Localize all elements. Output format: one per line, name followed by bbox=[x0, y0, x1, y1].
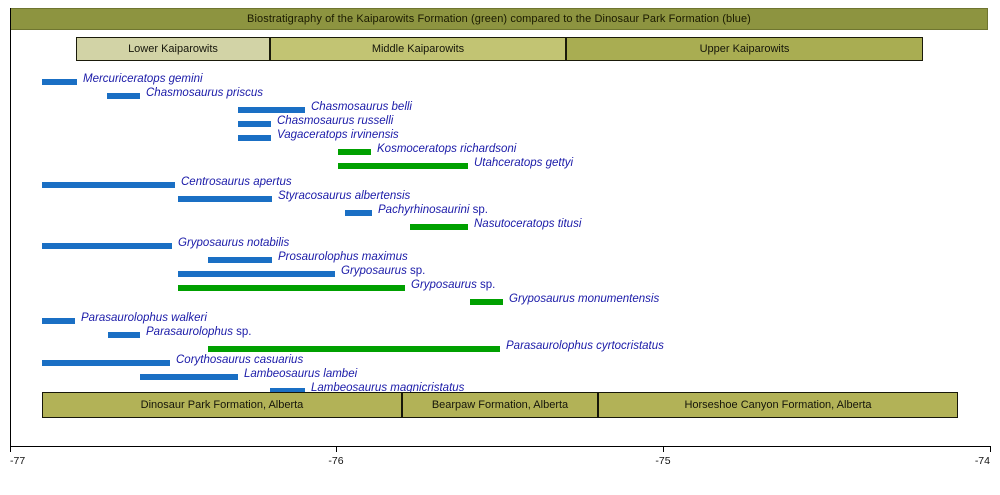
taxon-range-bar bbox=[178, 271, 335, 277]
taxon-label: Chasmosaurus russelli bbox=[277, 115, 393, 127]
taxon-row: Chasmosaurus belli bbox=[0, 103, 1000, 117]
taxon-range-bar bbox=[238, 107, 305, 113]
biostratigraphy-chart: Biostratigraphy of the Kaiparowits Forma… bbox=[0, 0, 1000, 495]
member-band-0: Lower Kaiparowits bbox=[76, 37, 270, 61]
taxon-row: Gryposaurus monumentensis bbox=[0, 295, 1000, 309]
x-axis-tick-label: -77 bbox=[10, 455, 25, 467]
taxon-range-bar bbox=[238, 121, 271, 127]
taxon-range-bar bbox=[42, 318, 75, 324]
alberta-formation-band: Dinosaur Park Formation, AlbertaBearpaw … bbox=[0, 392, 1000, 418]
taxon-range-bar bbox=[178, 285, 405, 291]
x-axis-tick bbox=[336, 446, 337, 452]
taxon-label: Chasmosaurus priscus bbox=[146, 87, 263, 99]
taxon-row: Gryposaurus notabilis bbox=[0, 239, 1000, 253]
formation-band-1: Bearpaw Formation, Alberta bbox=[402, 392, 598, 418]
taxon-range-bar bbox=[107, 93, 140, 99]
taxon-row: Prosaurolophus maximus bbox=[0, 253, 1000, 267]
taxon-label: Nasutoceratops titusi bbox=[474, 218, 581, 230]
formation-band-0: Dinosaur Park Formation, Alberta bbox=[42, 392, 402, 418]
taxon-range-bar bbox=[42, 360, 170, 366]
taxon-range-bar bbox=[410, 224, 468, 230]
taxon-range-bar bbox=[208, 257, 272, 263]
taxon-label-sp: sp. bbox=[233, 326, 252, 338]
taxon-label: Vagaceratops irvinensis bbox=[277, 129, 399, 141]
taxon-label-sp: sp. bbox=[469, 204, 488, 216]
x-axis-line bbox=[10, 446, 990, 447]
taxon-range-bar bbox=[338, 163, 468, 169]
x-axis-tick bbox=[990, 446, 991, 452]
taxon-row: Gryposaurus sp. bbox=[0, 281, 1000, 295]
formation-band-label: Horseshoe Canyon Formation, Alberta bbox=[684, 399, 871, 411]
taxon-label: Utahceratops gettyi bbox=[474, 157, 573, 169]
member-band-1: Middle Kaiparowits bbox=[270, 37, 566, 61]
taxon-label: Gryposaurus sp. bbox=[411, 279, 495, 291]
taxon-label: Centrosaurus apertus bbox=[181, 176, 292, 188]
taxon-label: Gryposaurus notabilis bbox=[178, 237, 289, 249]
y-axis-line bbox=[10, 8, 11, 446]
member-band-label: Upper Kaiparowits bbox=[700, 43, 790, 55]
taxon-row: Gryposaurus sp. bbox=[0, 267, 1000, 281]
taxon-range-bar bbox=[470, 299, 503, 305]
x-axis-tick-label: -76 bbox=[328, 455, 343, 467]
member-band-label: Lower Kaiparowits bbox=[128, 43, 218, 55]
taxon-label: Corythosaurus casuarius bbox=[176, 354, 303, 366]
taxon-row: Nasutoceratops titusi bbox=[0, 220, 1000, 234]
taxon-label: Gryposaurus monumentensis bbox=[509, 293, 659, 305]
taxon-range-bar bbox=[42, 243, 172, 249]
taxon-label: Parasaurolophus sp. bbox=[146, 326, 252, 338]
taxon-range-bar bbox=[178, 196, 272, 202]
taxon-row: Parasaurolophus cyrtocristatus bbox=[0, 342, 1000, 356]
x-axis-tick bbox=[663, 446, 664, 452]
taxon-range-bar bbox=[42, 182, 175, 188]
taxon-row: Styracosaurus albertensis bbox=[0, 192, 1000, 206]
x-axis-tick bbox=[10, 446, 11, 452]
taxon-label: Pachyrhinosaurini sp. bbox=[378, 204, 488, 216]
formation-band-label: Bearpaw Formation, Alberta bbox=[432, 399, 568, 411]
taxon-label-sp: sp. bbox=[407, 265, 426, 277]
taxon-row: Utahceratops gettyi bbox=[0, 159, 1000, 173]
taxon-label: Styracosaurus albertensis bbox=[278, 190, 410, 202]
taxon-range-bar bbox=[238, 135, 271, 141]
x-axis-tick-label: -75 bbox=[655, 455, 670, 467]
taxon-label: Parasaurolophus walkeri bbox=[81, 312, 207, 324]
chart-title-bar: Biostratigraphy of the Kaiparowits Forma… bbox=[10, 8, 988, 30]
taxon-label: Gryposaurus sp. bbox=[341, 265, 425, 277]
kaiparowits-member-band: Lower KaiparowitsMiddle KaiparowitsUpper… bbox=[0, 37, 1000, 61]
member-band-2: Upper Kaiparowits bbox=[566, 37, 923, 61]
taxon-range-bar bbox=[140, 374, 238, 380]
taxon-row: Parasaurolophus sp. bbox=[0, 328, 1000, 342]
taxon-range-plot: Mercuriceratops geminiChasmosaurus prisc… bbox=[0, 66, 1000, 384]
member-band-label: Middle Kaiparowits bbox=[372, 43, 464, 55]
formation-band-label: Dinosaur Park Formation, Alberta bbox=[141, 399, 304, 411]
taxon-range-bar bbox=[338, 149, 371, 155]
taxon-range-bar bbox=[345, 210, 372, 216]
taxon-label: Parasaurolophus cyrtocristatus bbox=[506, 340, 664, 352]
taxon-label: Chasmosaurus belli bbox=[311, 101, 412, 113]
taxon-range-bar bbox=[108, 332, 140, 338]
chart-title: Biostratigraphy of the Kaiparowits Forma… bbox=[247, 13, 751, 25]
taxon-row: Lambeosaurus lambei bbox=[0, 370, 1000, 384]
taxon-range-bar bbox=[208, 346, 500, 352]
taxon-label: Mercuriceratops gemini bbox=[83, 73, 203, 85]
taxon-label: Kosmoceratops richardsoni bbox=[377, 143, 516, 155]
taxon-label: Lambeosaurus lambei bbox=[244, 368, 357, 380]
taxon-row: Chasmosaurus russelli bbox=[0, 117, 1000, 131]
taxon-label: Prosaurolophus maximus bbox=[278, 251, 408, 263]
x-axis-tick-label: -74 bbox=[975, 455, 990, 467]
taxon-row: Centrosaurus apertus bbox=[0, 178, 1000, 192]
taxon-range-bar bbox=[42, 79, 77, 85]
taxon-label-sp: sp. bbox=[477, 279, 496, 291]
formation-band-2: Horseshoe Canyon Formation, Alberta bbox=[598, 392, 958, 418]
taxon-row: Corythosaurus casuarius bbox=[0, 356, 1000, 370]
taxon-row: Chasmosaurus priscus bbox=[0, 89, 1000, 103]
